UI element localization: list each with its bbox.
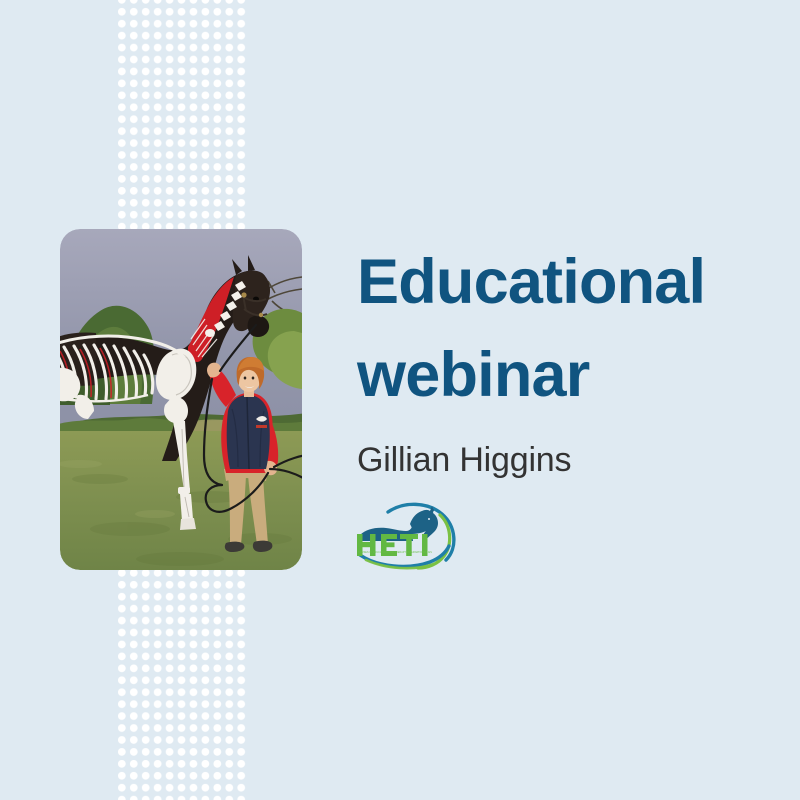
heti-logo-mark xyxy=(352,498,464,572)
heti-logo-tagline: HORSES IN EDUCATION AND THERAPY INTERNAT… xyxy=(358,551,432,554)
speaker-name: Gillian Higgins xyxy=(357,422,777,481)
poster-content: Educational webinar Gillian Higgins xyxy=(357,236,777,481)
page-title: Educational webinar xyxy=(357,236,777,422)
speaker-photo xyxy=(60,229,302,570)
poster-canvas: Educational webinar Gillian Higgins xyxy=(0,0,800,800)
heti-logo: HORSES IN EDUCATION AND THERAPY INTERNAT… xyxy=(352,498,464,572)
speaker-photo-card xyxy=(60,229,302,570)
